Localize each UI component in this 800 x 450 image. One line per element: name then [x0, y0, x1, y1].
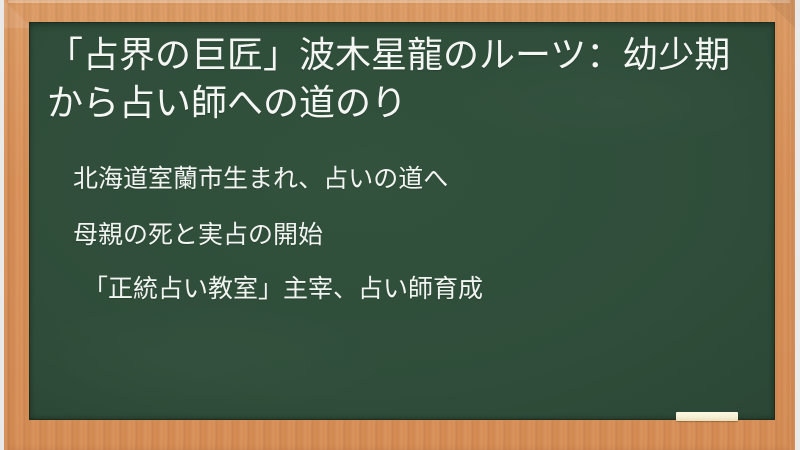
frame-top-highlight [8, 0, 790, 3]
page-title: 「占界の巨匠」波木星龍のルーツ：幼少期から占い師への道のり [47, 32, 761, 128]
chalkboard-content: 「占界の巨匠」波木星龍のルーツ：幼少期から占い師への道のり 北海道室蘭市生まれ、… [29, 22, 775, 420]
list-item: 「正統占い教室」主宰、占い師育成 [83, 274, 761, 304]
page-background-right [795, 0, 800, 450]
list-item: 母親の死と実占の開始 [73, 220, 761, 250]
list-item: 北海道室蘭市生まれ、占いの道へ [73, 164, 761, 194]
chalkboard-surface: 「占界の巨匠」波木星龍のルーツ：幼少期から占い師への道のり 北海道室蘭市生まれ、… [29, 22, 775, 420]
chalk-stick-icon [676, 412, 738, 421]
bullet-list: 北海道室蘭市生まれ、占いの道へ 母親の死と実占の開始 「正統占い教室」主宰、占い… [47, 164, 761, 304]
slide-canvas: 「占界の巨匠」波木星龍のルーツ：幼少期から占い師への道のり 北海道室蘭市生まれ、… [0, 0, 800, 450]
